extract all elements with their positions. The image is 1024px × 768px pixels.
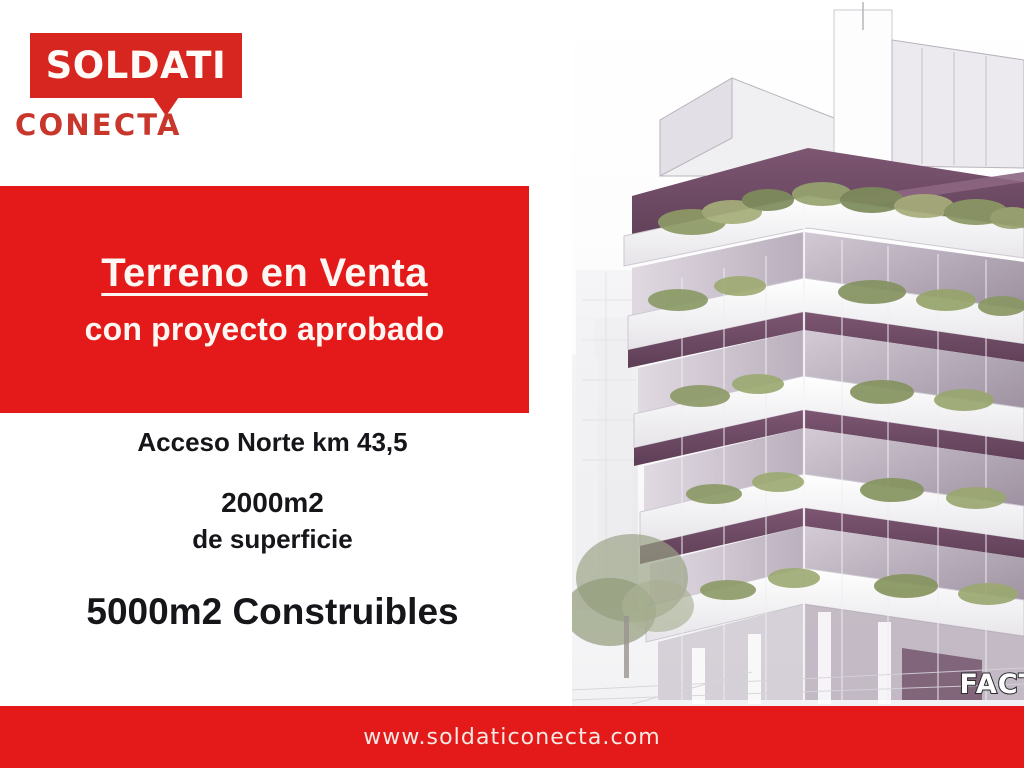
brand-logo[interactable]: SOLDATI CONECTA: [14, 30, 274, 150]
detail-location: Acceso Norte km 43,5: [0, 428, 545, 457]
detail-surface-label: de superficie: [0, 525, 545, 554]
website-url[interactable]: www.soldaticonecta.com: [363, 725, 661, 750]
building-render-illustration: [572, 0, 1024, 706]
building-render-panel: FACT: [572, 0, 1024, 706]
brand-name: SOLDATI: [46, 47, 227, 84]
property-details: Acceso Norte km 43,5 2000m2 de superfici…: [0, 428, 545, 632]
detail-surface-area: 2000m2: [0, 487, 545, 518]
image-watermark: FACT: [960, 669, 1024, 700]
headline-subtitle: con proyecto aprobado: [85, 312, 445, 347]
logo-badge: SOLDATI: [30, 33, 242, 98]
advertisement-poster: SOLDATI CONECTA Terreno en Venta con pro…: [0, 0, 1024, 768]
detail-buildable-area: 5000m2 Construibles: [0, 591, 545, 632]
footer-bar: www.soldaticonecta.com: [0, 706, 1024, 768]
content-column: SOLDATI CONECTA Terreno en Venta con pro…: [0, 0, 572, 706]
headline-banner: Terreno en Venta con proyecto aprobado: [0, 186, 529, 413]
headline-title: Terreno en Venta: [101, 251, 427, 295]
brand-tagline: CONECTA: [15, 111, 182, 140]
